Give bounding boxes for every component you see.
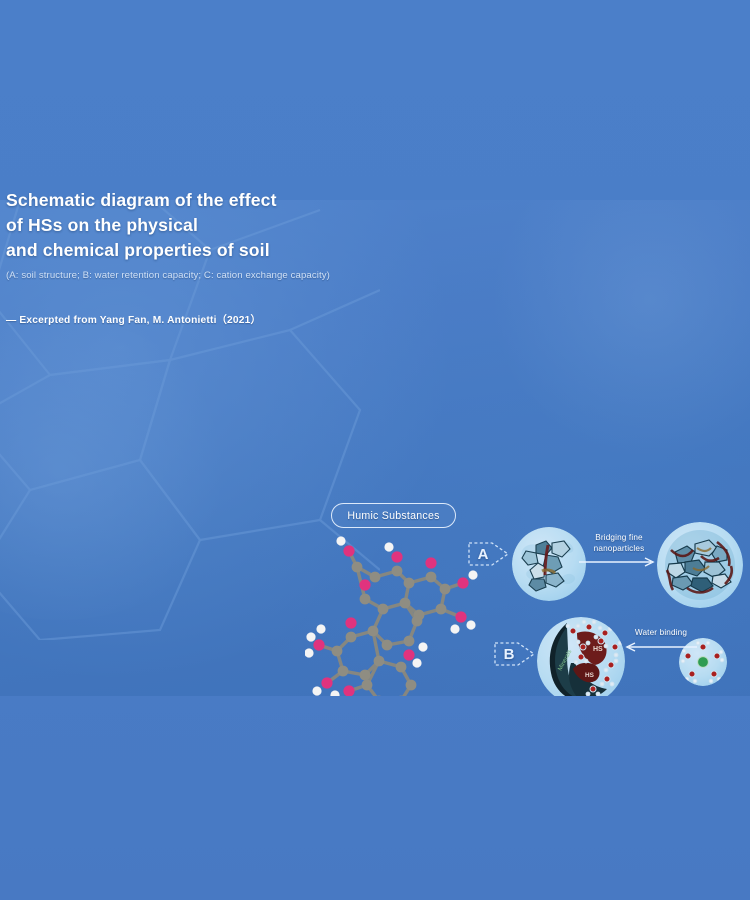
marker-b-label: B: [498, 637, 520, 671]
panel-a-loose-minerals-circle: [512, 527, 586, 601]
flow-bridging: Bridging fine nanoparticles: [576, 533, 662, 568]
figure-title-line-2: of HSs on the physical: [6, 213, 336, 238]
marker-a-label: A: [472, 537, 494, 571]
figure-attribution: — Excerpted from Yang Fan, M. Antonietti…: [6, 311, 336, 326]
bridged-soil-aggregate-illustration: [657, 522, 743, 608]
panel-b-humic-coated-mineral-circle: HS HS Minerals: [537, 617, 625, 696]
flow-water-binding-line-1: Water binding: [622, 628, 700, 639]
flow-water-binding: Water binding: [622, 628, 700, 653]
arrow-right-icon: [579, 556, 659, 568]
figure-subtitle: (A: soil structure; B: water retention c…: [6, 269, 336, 282]
figure-title-line-1: Schematic diagram of the effect: [6, 188, 336, 213]
figure-title-line-3: and chemical properties of soil: [6, 238, 336, 263]
humic-coated-mineral-with-bound-water-illustration: HS HS Minerals: [537, 617, 625, 696]
arrow-left-icon: [625, 641, 697, 653]
flow-bridging-line-2: nanoparticles: [576, 544, 662, 555]
svg-text:HS: HS: [585, 672, 595, 679]
humic-substances-label-text: Humic Substances: [347, 510, 439, 522]
marker-b: B: [494, 637, 536, 671]
humic-substance-molecule-model: [305, 525, 480, 696]
panel-a-bridged-aggregate-circle: [657, 522, 743, 608]
marker-a: A: [468, 537, 510, 571]
figure-text-block: Schematic diagram of the effect of HSs o…: [6, 188, 336, 326]
flow-bridging-line-1: Bridging fine: [576, 533, 662, 544]
background-glow-right: [490, 200, 750, 460]
loose-mineral-fragments-illustration: [512, 527, 586, 601]
page-background: Humic Substances: [0, 0, 750, 900]
svg-text:HS: HS: [593, 646, 603, 653]
